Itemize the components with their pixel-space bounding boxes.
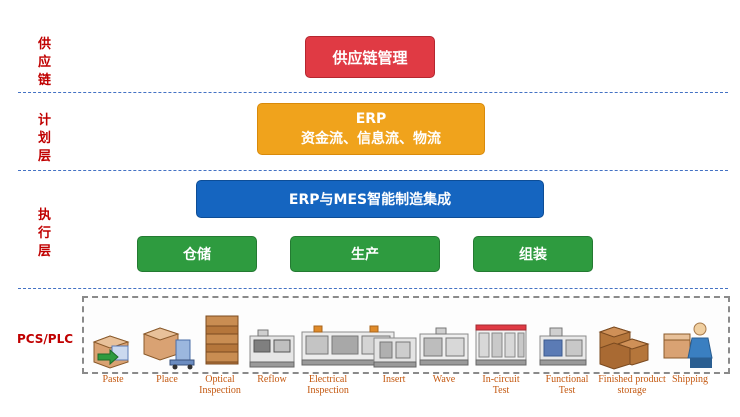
station-wave-icon xyxy=(418,300,470,370)
layer-label-supply-chain-char3: 链 xyxy=(14,72,76,90)
station-insert-icon xyxy=(372,300,418,370)
erp-mes-integration-box[interactable]: ERP与MES智能制造集成 xyxy=(196,180,544,218)
station-caption-electrical-inspection: ElectricalInspection xyxy=(286,374,370,396)
erp-box-title: ERP xyxy=(356,109,387,129)
layer-label-planning-char2: 划 xyxy=(14,130,76,148)
layer-label-planning: 计 划 层 xyxy=(14,112,76,166)
station-functional-test-icon xyxy=(536,300,590,370)
station-caption-insert: Insert xyxy=(364,374,424,385)
layer-label-execution-char1: 执 xyxy=(14,207,76,225)
station-optical-inspection-icon xyxy=(200,300,244,370)
layer-separator-3 xyxy=(18,288,728,289)
layer-label-planning-char1: 计 xyxy=(14,112,76,130)
warehouse-box[interactable]: 仓储 xyxy=(137,236,257,272)
architecture-diagram: 供 应 链 计 划 层 执 行 层 PCS/PLC 供应链管理 ERP 资金流、… xyxy=(0,0,740,417)
station-shipping-icon xyxy=(660,300,720,370)
layer-label-execution-char2: 行 xyxy=(14,225,76,243)
layer-separator-1 xyxy=(18,92,728,93)
station-reflow-icon xyxy=(248,300,296,370)
erp-box[interactable]: ERP 资金流、信息流、物流 xyxy=(257,103,485,155)
layer-separator-2 xyxy=(18,170,728,171)
layer-label-supply-chain-char2: 应 xyxy=(14,54,76,72)
station-paste-icon xyxy=(88,300,138,370)
erp-box-subtitle: 资金流、信息流、物流 xyxy=(301,129,441,149)
layer-label-execution-char3: 层 xyxy=(14,243,76,261)
station-place-icon xyxy=(140,300,198,370)
production-box[interactable]: 生产 xyxy=(290,236,440,272)
layer-label-execution: 执 行 层 xyxy=(14,207,76,261)
station-caption-shipping: Shipping xyxy=(656,374,724,385)
station-finished-product-storage-icon xyxy=(596,300,654,370)
supply-chain-management-box[interactable]: 供应链管理 xyxy=(305,36,435,78)
layer-label-pcs-plc: PCS/PLC xyxy=(14,330,76,348)
layer-label-supply-chain: 供 应 链 xyxy=(14,36,76,90)
station-in-circuit-test-icon xyxy=(474,300,528,370)
layer-label-planning-char3: 层 xyxy=(14,148,76,166)
layer-label-supply-chain-char1: 供 xyxy=(14,36,76,54)
station-caption-paste: Paste xyxy=(88,374,138,385)
assembly-box[interactable]: 组装 xyxy=(473,236,593,272)
